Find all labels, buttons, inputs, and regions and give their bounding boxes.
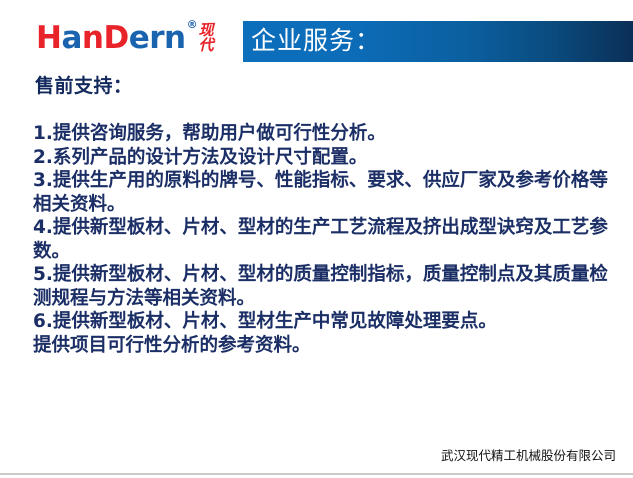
section-banner: 企业服务： xyxy=(243,21,633,62)
list-item-text: 提供新型板材、片材、型材的生产工艺流程及挤出成型诀窍及工艺参数。 xyxy=(33,217,608,262)
list-item-number: 3. xyxy=(33,170,53,191)
list-item: 1.提供咨询服务，帮助用户做可行性分析。 xyxy=(33,122,623,146)
list-item: 2.系列产品的设计方法及设计尺寸配置。 xyxy=(33,146,623,170)
brand-logo: HanDern ® 现 代 xyxy=(36,22,214,62)
list-item-number: 5. xyxy=(33,264,53,285)
list-item: 4.提供新型板材、片材、型材的生产工艺流程及挤出成型诀窍及工艺参数。 xyxy=(33,216,623,263)
list-item-text: 系列产品的设计方法及设计尺寸配置。 xyxy=(53,147,368,168)
logo-letter-4: D xyxy=(103,20,128,56)
main-content: 售前支持： 1.提供咨询服务，帮助用户做可行性分析。 2.系列产品的设计方法及设… xyxy=(33,72,623,357)
footer-divider xyxy=(0,473,633,475)
list-item-text: 提供新型板材、片材、型材生产中常见故障处理要点。 xyxy=(53,311,497,332)
logo-letter-5: e xyxy=(129,20,150,56)
list-item-text: 提供新型板材、片材、型材的质量控制指标，质量控制点及其质量检测规程与方法等相关资… xyxy=(33,264,608,309)
registered-trademark-icon: ® xyxy=(187,20,198,30)
logo-wordmark: HanDern xyxy=(36,22,186,54)
xiandai-seal-icon: 现 代 xyxy=(199,23,214,53)
list-item-text: 提供生产用的原料的牌号、性能指标、要求、供应厂家及参考价格等相关资料。 xyxy=(33,170,608,215)
banner-title: 企业服务： xyxy=(251,24,381,58)
service-list: 1.提供咨询服务，帮助用户做可行性分析。 2.系列产品的设计方法及设计尺寸配置。… xyxy=(33,122,623,334)
list-item: 5.提供新型板材、片材、型材的质量控制指标，质量控制点及其质量检测规程与方法等相… xyxy=(33,263,623,310)
list-item-text: 提供咨询服务，帮助用户做可行性分析。 xyxy=(53,123,386,144)
logo-letter-2: a xyxy=(61,20,81,56)
logo-letter-3: n xyxy=(82,20,104,56)
company-name: 武汉现代精工机械股份有限公司 xyxy=(441,448,616,464)
seal-char-bottom: 代 xyxy=(199,38,214,53)
list-item: 6.提供新型板材、片材、型材生产中常见故障处理要点。 xyxy=(33,310,623,334)
closing-line: 提供项目可行性分析的参考资料。 xyxy=(33,334,623,358)
subheading-presales: 售前支持： xyxy=(35,72,623,100)
logo-letter-7: n xyxy=(164,20,186,56)
list-item: 3.提供生产用的原料的牌号、性能指标、要求、供应厂家及参考价格等相关资料。 xyxy=(33,169,623,216)
list-item-number: 2. xyxy=(33,147,53,168)
list-item-number: 4. xyxy=(33,217,53,238)
list-item-number: 6. xyxy=(33,311,53,332)
logo-letter-6: r xyxy=(149,20,164,56)
list-item-number: 1. xyxy=(33,123,53,144)
logo-letter-1: H xyxy=(36,20,61,56)
page-footer: 武汉现代精工机械股份有限公司 xyxy=(0,444,633,478)
page-header: HanDern ® 现 代 企业服务： xyxy=(0,0,633,68)
